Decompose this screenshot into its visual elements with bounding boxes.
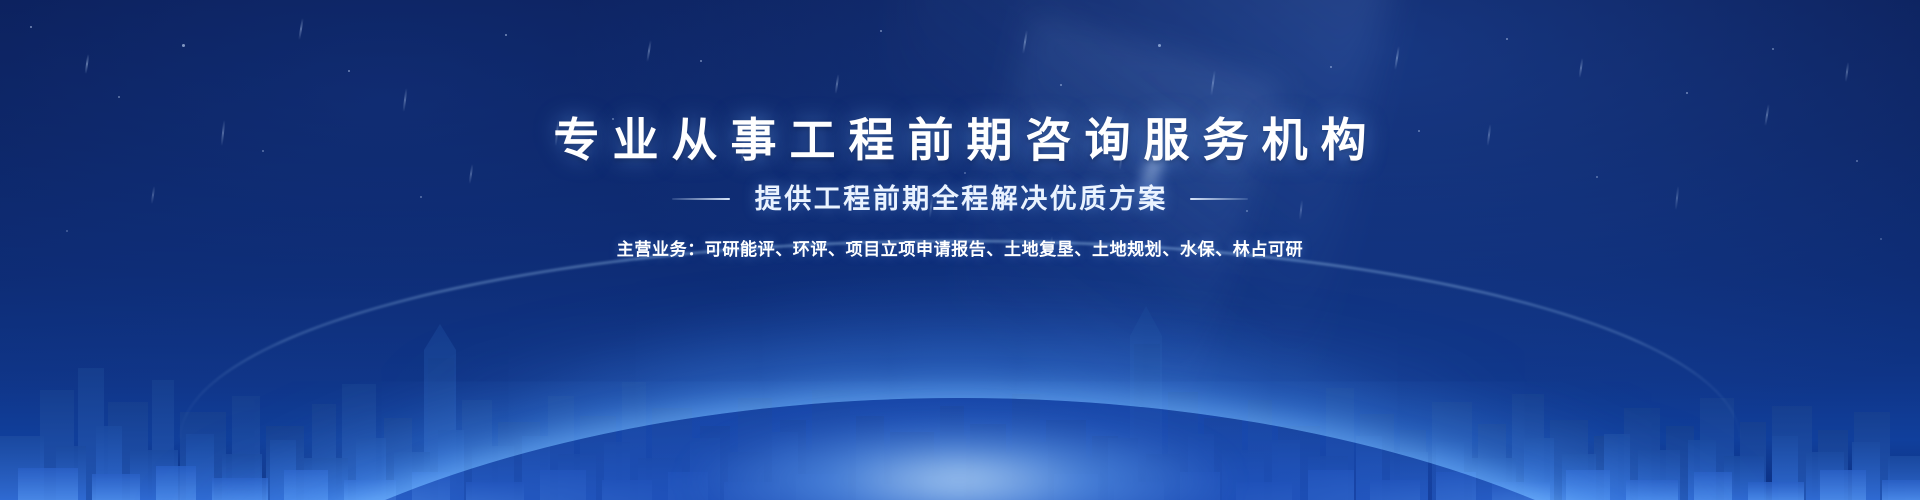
horizon-arc [80,398,1840,500]
banner-title: 专业从事工程前期咨询服务机构 [0,0,1920,170]
horizon-edge-line [180,240,1740,440]
banner-business-line: 主营业务：可研能评、环评、项目立项申请报告、土地复垦、土地规划、水保、林占可研 [0,238,1920,262]
skyline-layer-mid [0,426,1920,500]
dash-left-icon [672,198,730,200]
dash-right-icon [1190,198,1248,200]
banner-content: 专业从事工程前期咨询服务机构 提供工程前期全程解决优质方案 主营业务：可研能评、… [0,0,1920,262]
skyline-layer-near [18,466,1920,500]
banner-subtitle: 提供工程前期全程解决优质方案 [752,182,1168,216]
skyline-layer-far [40,306,1890,500]
horizon-glow-core [580,390,1340,500]
banner-subtitle-row: 提供工程前期全程解决优质方案 [0,182,1920,216]
city-skyline [0,240,1920,500]
hero-banner: 专业从事工程前期咨询服务机构 提供工程前期全程解决优质方案 主营业务：可研能评、… [0,0,1920,500]
